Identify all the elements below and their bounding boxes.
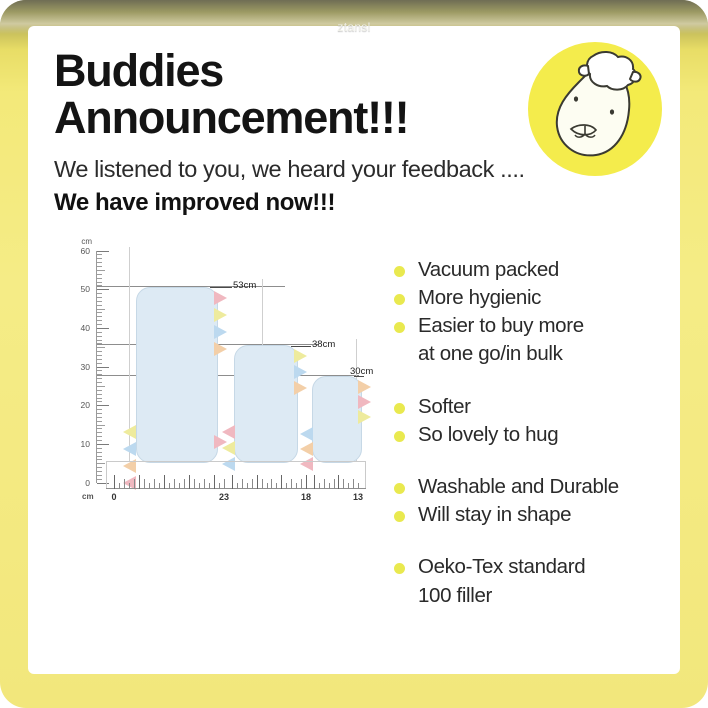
ruler-tick [348,483,349,489]
list-item: Softer [394,394,658,420]
ruler-tick [129,483,130,489]
horizontal-ruler-unit: cm [82,492,94,501]
size-label-small: 30cm [350,366,373,377]
ruler-tick [97,448,102,449]
ruler-tick [97,340,102,341]
page-title: Buddies Announcement!!! [54,48,524,142]
horizontal-ruler: cm 0231813 [106,461,366,513]
ruler-tick [237,483,238,489]
fabric-tag [214,342,227,356]
subtitle-bold: We have improved now!!! [54,189,658,217]
size-label-medium: 38cm [312,339,335,350]
list-item: So lovely to hug [394,422,658,448]
ruler-tick [97,386,105,387]
ruler-tick [97,382,102,383]
list-item: Washable and Durable [394,474,658,500]
ruler-tick [214,475,215,489]
ruler-tick [97,316,102,317]
ruler-tick [97,459,102,460]
bullet-dot-icon [394,431,405,442]
vertical-ruler-unit: cm [81,237,92,246]
ruler-tick [97,332,102,333]
ruler-tick [164,475,165,489]
ruler-tick [329,483,330,489]
ruler-tick [97,355,102,356]
ruler-tick [296,483,297,489]
list-item: Will stay in shape [394,502,658,528]
ruler-tick [124,479,125,489]
fabric-tag [358,410,371,424]
ruler-tick [97,262,102,263]
fabric-tag [294,349,307,363]
watermark-label: ztansl [0,20,708,34]
ruler-tick [97,479,102,480]
ruler-tick [97,266,102,267]
bullet-dot-icon [394,266,405,277]
ruler-tick [134,479,135,489]
ruler-tick [97,475,102,476]
ruler-tick [97,471,102,472]
ruler-tick [97,351,102,352]
bullet-dot-icon [394,294,405,305]
ruler-tick [97,370,102,371]
ruler-tick [281,475,282,489]
ruler-tick [319,483,320,489]
ruler-tick [199,483,200,489]
ruler-tick [149,483,150,489]
list-item-label: Oeko-Tex standard [418,554,585,580]
ruler-tick-label: 20 [68,400,90,410]
feature-group-packaging: Vacuum packedMore hygienicEasier to buy … [394,257,658,368]
ruler-tick [189,475,190,489]
feature-list: Vacuum packedMore hygienicEasier to buy … [384,239,658,639]
sheep-icon [541,50,649,168]
ruler-tick [97,378,102,379]
leader-53 [210,287,232,288]
list-item: Easier to buy more [394,313,658,339]
ruler-tick [97,270,105,271]
ruler-tick [97,347,105,348]
fabric-tag [294,381,307,395]
ruler-tick [242,479,243,489]
feature-group-certification: Oeko-Tex standard100 filler [394,554,658,608]
ruler-tick [247,483,248,489]
ruler-tick [97,312,102,313]
fabric-tag [358,395,371,409]
fabric-tag [300,427,313,441]
list-item-label: Will stay in shape [418,502,571,528]
ruler-tick [97,251,109,252]
ruler-tick [97,456,102,457]
fabric-tag [214,291,227,305]
ruler-tick [338,475,339,489]
fabric-tag [222,425,235,439]
ruler-tick [97,328,109,329]
pillow-medium [234,345,298,463]
ruler-tick [119,483,120,489]
ruler-tick [301,479,302,489]
feature-group-comfort: SofterSo lovely to hug [394,394,658,448]
ruler-tick [97,444,109,445]
ruler-tick [97,289,109,290]
list-item: at one go/in bulk [394,341,658,367]
ruler-tick [276,483,277,489]
sheep-pattern-large [137,288,217,462]
ruler-tick [194,479,195,489]
ruler-tick [262,479,263,489]
ruler-tick [97,428,102,429]
list-item-label: Softer [418,394,471,420]
leader-38 [291,346,311,347]
list-item-label: Washable and Durable [418,474,619,500]
ruler-tick [97,405,109,406]
fabric-tag [214,308,227,322]
size-chart: cm 0102030405060 [54,239,384,539]
ruler-tick [97,394,102,395]
header: Buddies Announcement!!! We listened to y… [54,48,658,217]
ruler-tick-label: 50 [68,284,90,294]
ruler-tick [97,452,102,453]
ruler-tick [334,479,335,489]
ruler-tick-label: 23 [219,492,229,502]
list-item: Oeko-Tex standard [394,554,658,580]
ruler-tick [97,293,102,294]
poster-frame: ztansl [0,0,708,708]
ruler-tick [97,282,102,283]
list-item-label: Vacuum packed [418,257,559,283]
ruler-tick [169,483,170,489]
ruler-tick [97,409,102,410]
ruler-tick [97,336,102,337]
ruler-tick [97,258,102,259]
ruler-tick [209,483,210,489]
sheep-pattern-medium [235,346,297,462]
ruler-tick [184,479,185,489]
bullet-dot-icon [394,563,405,574]
ruler-tick [324,479,325,489]
title-line-1: Buddies [54,45,223,96]
ruler-tick [97,278,102,279]
ruler-tick [97,421,102,422]
ruler-tick [267,483,268,489]
ruler-tick [97,309,105,310]
ruler-tick-label: 18 [301,492,311,502]
ruler-tick [97,320,102,321]
ruler-tick [353,479,354,489]
list-item-label: Easier to buy more [418,313,584,339]
list-item-label: So lovely to hug [418,422,558,448]
pillow-large [136,287,218,463]
ruler-tick [97,398,102,399]
ruler-tick [97,301,102,302]
ruler-tick [97,363,102,364]
feature-group-care: Washable and DurableWill stay in shape [394,474,658,528]
list-item-label: 100 filler [418,583,492,609]
bullet-dot-icon [394,322,405,333]
size-label-large: 53cm [233,280,256,291]
ruler-tick [271,479,272,489]
ruler-tick [97,367,109,368]
ruler-tick [358,483,359,489]
fabric-tag [214,325,227,339]
fabric-tag [358,380,371,394]
ruler-tick [97,467,102,468]
ruler-tick [257,475,258,489]
ruler-tick [139,475,140,489]
ruler-tick [224,479,225,489]
ruler-tick [314,475,315,489]
bullet-dot-icon [394,511,405,522]
sheep-pattern-small [313,377,361,462]
bullet-dot-icon [394,483,405,494]
ruler-tick-label: 30 [68,362,90,372]
ruler-tick [97,440,102,441]
ruler-tick [204,479,205,489]
ruler-tick-label: 60 [68,246,90,256]
ruler-tick [159,483,160,489]
ruler-tick [179,483,180,489]
size-chart-column: cm 0102030405060 [54,239,384,639]
ruler-tick [343,479,344,489]
fabric-tag [294,365,307,379]
ruler-tick [97,463,105,464]
ruler-tick [97,297,102,298]
ruler-tick [219,483,220,489]
ruler-tick-label: 13 [353,492,363,502]
ruler-tick [97,305,102,306]
title-line-2: Announcement!!! [54,95,524,142]
ruler-tick [144,479,145,489]
fabric-tag [300,442,313,456]
ruler-tick [232,475,233,489]
bullet-spacer [394,350,405,361]
ruler-tick [97,436,102,437]
ruler-tick [286,483,287,489]
fabric-tag [123,442,136,456]
ruler-tick [97,425,105,426]
ruler-tick [291,479,292,489]
list-item: More hygienic [394,285,658,311]
ruler-tick-label: 0 [68,478,90,488]
fabric-tag [222,441,235,455]
ruler-tick [114,475,115,489]
ruler-tick [97,413,102,414]
list-item-label: More hygienic [418,285,541,311]
ruler-tick [97,432,102,433]
sheep-logo [528,42,662,176]
ruler-tick [252,479,253,489]
ruler-tick-label: 10 [68,439,90,449]
ruler-tick [97,254,102,255]
bullet-dot-icon [394,403,405,414]
fabric-tag [123,425,136,439]
bullet-spacer [394,592,405,603]
list-item: 100 filler [394,583,658,609]
ruler-tick [97,401,102,402]
ruler-tick [97,359,102,360]
ruler-tick-label: 40 [68,323,90,333]
ruler-tick [97,417,102,418]
ruler-tick-label: 0 [111,492,116,502]
ruler-tick [97,274,102,275]
ruler-tick [306,475,307,489]
poster-card: Buddies Announcement!!! We listened to y… [28,26,680,674]
ruler-tick [97,390,102,391]
list-item: Vacuum packed [394,257,658,283]
ruler-tick [174,479,175,489]
ruler-tick [97,324,102,325]
ruler-tick [154,479,155,489]
content-body: cm 0102030405060 [54,239,658,639]
pillow-small [312,376,362,463]
list-item-label: at one go/in bulk [418,341,563,367]
